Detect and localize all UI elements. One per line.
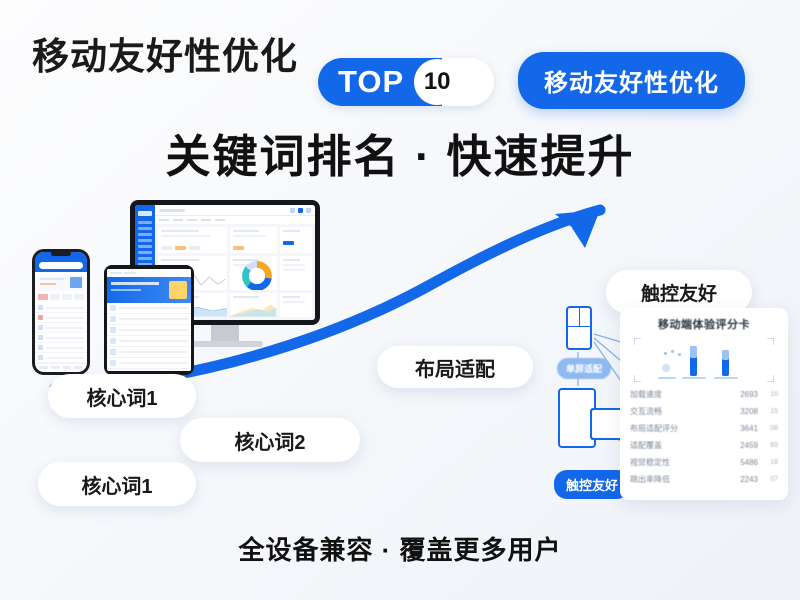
list-item [107, 325, 191, 336]
tablet-mockup [104, 265, 194, 375]
phone-screen [35, 252, 87, 372]
row-name: 交互流畅 [630, 406, 728, 417]
row-delta: 15 [758, 408, 778, 415]
table-row: 交互流畅 3208 15 [630, 403, 778, 420]
monitor-stand [187, 341, 263, 347]
list-item [107, 303, 191, 314]
row-name: 视觉稳定性 [630, 457, 728, 468]
mini-phone-split-icon [566, 306, 592, 350]
mini-tablet-icon [590, 408, 624, 440]
list-item [107, 347, 191, 358]
row-value: 2243 [728, 475, 758, 484]
badge-number: 10 [414, 59, 460, 105]
monitor-neck [211, 325, 239, 341]
score-card-title: 移动端体验评分卡 [630, 316, 778, 332]
dashboard-card [280, 256, 312, 290]
phone-mockup [32, 249, 90, 375]
footer-tagline: 全设备兼容 · 覆盖更多用户 [0, 530, 800, 567]
table-row: 视觉稳定性 5486 18 [630, 454, 778, 471]
score-card-panel: 移动端体验评分卡 加载速度 2693 10 [620, 308, 788, 500]
row-delta: 18 [758, 459, 778, 466]
mobile-experience-diagram: 单屏适配 触控友好 移动端体验评分卡 [548, 300, 788, 515]
list-item [35, 323, 87, 333]
list-item [35, 333, 87, 343]
score-card-rows: 加载速度 2693 10 交互流畅 3208 15 布局适配评分 3641 08… [630, 386, 778, 488]
phone-tabbar [35, 363, 87, 372]
donut-chart [242, 261, 272, 290]
list-item [35, 353, 87, 363]
phone-promo-card [38, 275, 84, 291]
tablet-screen [107, 269, 191, 371]
table-row: 布局适配评分 3641 08 [630, 420, 778, 437]
tablet-header [107, 269, 191, 277]
row-name: 适配覆盖 [630, 440, 728, 451]
keyword-pill-1: 核心词1 [48, 374, 196, 418]
badge-top-label: TOP [338, 64, 404, 100]
phone-nav-row [35, 291, 87, 303]
dashboard-topbar [155, 205, 315, 216]
dashboard-card [230, 227, 276, 253]
device-mockups [22, 195, 342, 375]
dashboard-card [280, 293, 312, 317]
kicker-text: 移动友好性优化 [32, 26, 298, 80]
row-value: 2459 [728, 441, 758, 450]
row-name: 布局适配评分 [630, 423, 728, 434]
keyword-pill-3: 核心词1 [38, 462, 196, 506]
table-row: 适配覆盖 2459 60 [630, 437, 778, 454]
dashboard-card-donut [230, 256, 276, 290]
phone-notch [51, 251, 71, 256]
tag-pill-mobile-friendly: 移动友好性优化 [518, 52, 745, 109]
dashboard-card-area [230, 293, 276, 317]
table-row: 跳出率降低 2243 07 [630, 471, 778, 488]
row-delta: 60 [758, 442, 778, 449]
row-value: 5486 [728, 458, 758, 467]
row-value: 3641 [728, 424, 758, 433]
score-card-chart [634, 338, 774, 382]
poster-canvas: 移动友好性优化 TOP 10 移动友好性优化 关键词排名 · 快速提升 [0, 0, 800, 600]
dashboard-card [158, 227, 227, 253]
list-item [35, 313, 87, 323]
tablet-bezel [104, 265, 194, 375]
table-row: 加载速度 2693 10 [630, 386, 778, 403]
phone-bezel [32, 249, 90, 375]
dashboard-toolbar [155, 216, 315, 224]
top-10-badge: TOP 10 [318, 58, 494, 106]
list-item [35, 303, 87, 313]
row-delta: 08 [758, 425, 778, 432]
search-input[interactable] [39, 262, 83, 269]
row-value: 2693 [728, 390, 758, 399]
single-screen-label: 单屏适配 [557, 358, 611, 379]
layout-adaptation-pill: 布局适配 [377, 346, 533, 388]
dashboard-card [280, 227, 312, 253]
list-item [107, 358, 191, 369]
row-name: 跳出率降低 [630, 474, 728, 485]
list-item [107, 336, 191, 347]
list-item [35, 343, 87, 353]
row-delta: 10 [758, 391, 778, 398]
row-value: 3208 [728, 407, 758, 416]
keyword-pill-2: 核心词2 [180, 418, 360, 462]
tablet-banner [107, 277, 191, 303]
row-name: 加载速度 [630, 389, 728, 400]
row-delta: 07 [758, 476, 778, 483]
list-item [107, 314, 191, 325]
touch-friendly-label: 触控友好 [554, 470, 630, 499]
